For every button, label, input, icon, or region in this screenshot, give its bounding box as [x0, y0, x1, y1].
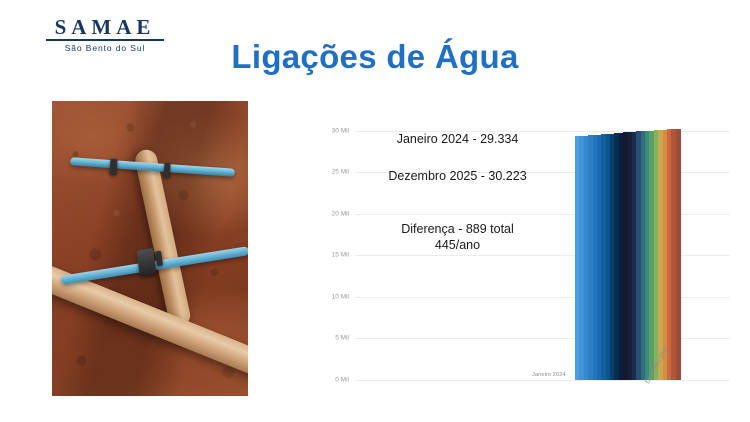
callout-line-4: 445/ano	[330, 238, 585, 254]
chart-bar	[676, 129, 681, 380]
x-axis-label-start: Janeiro 2024	[532, 372, 566, 378]
logo-subtitle: São Bento do Sul	[40, 43, 170, 53]
callout-line-3: Diferença - 889 total	[330, 222, 585, 238]
callout-block: Janeiro 2024 - 29.334 Dezembro 2025 - 30…	[330, 132, 585, 254]
callout-line-1: Janeiro 2024 - 29.334	[330, 132, 585, 148]
y-axis-tick-label: 5 Mil	[335, 335, 349, 342]
logo-wordmark: SAMAE	[40, 16, 170, 38]
y-axis-tick-label: 10 Mil	[332, 293, 349, 300]
page-title: Ligações de Água	[195, 38, 555, 76]
samae-logo: SAMAE São Bento do Sul	[40, 16, 170, 53]
callout-spacer-1	[330, 148, 585, 169]
callout-spacer-2	[330, 184, 585, 222]
callout-line-2: Dezembro 2025 - 30.223	[330, 169, 585, 185]
y-axis-tick-label: 0 Mil	[335, 377, 349, 384]
pipe-fitting	[136, 248, 156, 276]
logo-divider	[46, 39, 164, 41]
pipe-clamp-upper-2	[163, 163, 170, 178]
trench-photo	[52, 101, 248, 396]
pipe-clamp-upper	[109, 159, 117, 175]
chart-gridline: 0 Mil	[355, 380, 730, 381]
